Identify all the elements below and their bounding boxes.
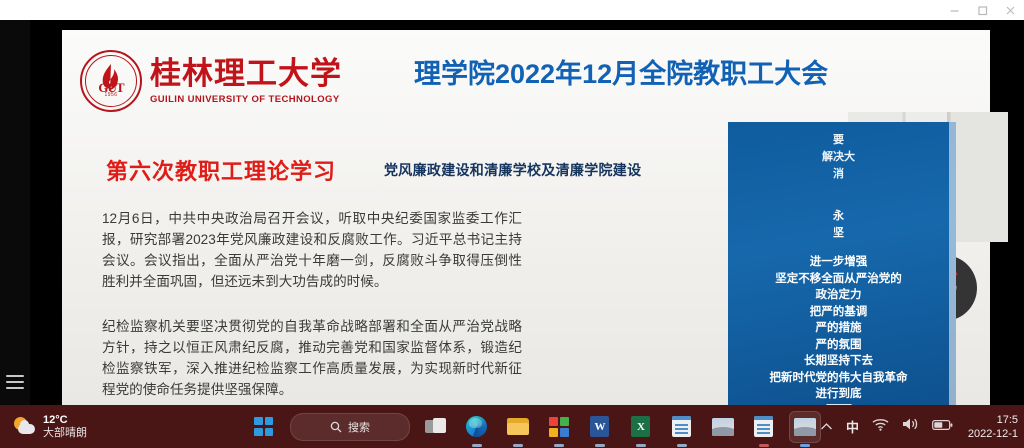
taskbar-item-store[interactable] — [544, 412, 574, 442]
notepad-icon — [672, 416, 691, 437]
start-button[interactable] — [249, 412, 279, 442]
word-icon: W — [590, 416, 609, 437]
clock-date: 2022-12-1 — [966, 427, 1018, 441]
slide-keeps-line: 两个 “时刻保持” — [162, 404, 278, 405]
clock-time: 17:5 — [966, 413, 1018, 427]
ime-indicator[interactable]: 中 — [846, 417, 859, 436]
edge-icon — [466, 416, 487, 437]
taskbar-item-edge[interactable] — [462, 412, 492, 442]
clock[interactable]: 17:5 2022-12-1 — [966, 413, 1018, 441]
university-name-en: GUILIN UNIVERSITY OF TECHNOLOGY — [150, 94, 342, 105]
left-toolbar-rail — [0, 20, 30, 405]
meeting-stage: GUT 1956 桂林理工大学 GUILIN UNIVERSITY OF TEC… — [0, 20, 1024, 405]
university-seal-icon: GUT 1956 — [80, 50, 142, 112]
photos-icon — [712, 418, 734, 436]
notepad-2-icon — [754, 416, 773, 437]
chevron-up-icon — [820, 422, 833, 431]
weather-partly-sunny-icon — [14, 416, 36, 438]
search-icon — [330, 421, 342, 433]
meeting-app-icon — [794, 418, 816, 436]
excel-icon: X — [631, 416, 650, 437]
taskbar-item-excel[interactable]: X — [626, 412, 656, 442]
volume-icon — [902, 417, 919, 431]
volume-button[interactable] — [902, 417, 919, 436]
shared-slide: GUT 1956 桂林理工大学 GUILIN UNIVERSITY OF TEC… — [62, 30, 990, 405]
slide-sub-heading: 党风廉政建设和清廉学校及清廉学院建设 — [384, 160, 641, 180]
close-icon[interactable] — [996, 0, 1024, 20]
weather-condition: 大部晴朗 — [43, 427, 87, 440]
university-name-cn: 桂林理工大学 — [150, 58, 342, 89]
weather-temperature: 12°C — [43, 414, 87, 427]
slide-paragraph-1: 12月6日，中共中央政治局召开会议，听取中央纪委国家监委工作汇报，研究部署202… — [102, 208, 522, 292]
network-button[interactable] — [872, 418, 889, 436]
task-view-button[interactable] — [421, 412, 451, 442]
taskbar-item-photos[interactable] — [708, 412, 738, 442]
slide-title: 理学院2022年12月全院教职工大会 — [414, 52, 828, 91]
taskbar-item-notepad-2[interactable] — [749, 412, 779, 442]
windows-logo-icon — [254, 417, 273, 436]
slide-red-heading: 第六次教职工理论学习 — [106, 154, 336, 186]
search-placeholder: 搜索 — [348, 419, 370, 435]
search-input[interactable]: 搜索 — [290, 413, 410, 441]
taskbar-item-notepad[interactable] — [667, 412, 697, 442]
taskbar-weather-widget[interactable]: 12°C 大部晴朗 — [0, 414, 249, 440]
taskbar-item-file-explorer[interactable] — [503, 412, 533, 442]
taskbar-app-strip: 搜索 W — [249, 412, 820, 442]
task-view-icon — [425, 418, 446, 435]
excel-glyph: X — [637, 421, 645, 433]
word-glyph: W — [594, 421, 605, 433]
poster-edge-highlight — [949, 122, 956, 405]
maximize-icon[interactable] — [968, 0, 996, 20]
wifi-icon — [872, 418, 889, 431]
taskbar-item-meeting-app[interactable] — [790, 412, 820, 442]
tray-overflow-button[interactable] — [820, 418, 833, 436]
poster-main-lines: 进一步增强 坚定不移全面从严治党的 政治定力 把严的基调 严的措施 严的氛围 长… — [728, 254, 949, 403]
battery-icon — [932, 419, 953, 431]
poster-top-lines: 要 解决大 消 — [728, 132, 949, 183]
store-icon — [549, 417, 569, 437]
folder-icon — [507, 418, 529, 435]
system-tray: 中 — [820, 413, 1024, 441]
window-title-bar — [0, 0, 1024, 20]
screen-root: GUT 1956 桂林理工大学 GUILIN UNIVERSITY OF TEC… — [0, 0, 1024, 448]
menu-icon[interactable] — [6, 375, 24, 389]
windows-taskbar: 12°C 大部晴朗 搜索 — [0, 405, 1024, 448]
poster-mid-lines: 永 坚 — [728, 208, 949, 242]
battery-button[interactable] — [932, 418, 953, 436]
university-logo: GUT 1956 桂林理工大学 GUILIN UNIVERSITY OF TEC… — [80, 50, 342, 112]
slide-paragraph-2: 纪检监察机关要坚决贯彻党的自我革命战略部署和全面从严治党战略方针，持之以恒正风肃… — [102, 316, 522, 400]
taskbar-item-word[interactable]: W — [585, 412, 615, 442]
slide-poster-image: 要 解决大 消 永 坚 进一步增强 坚定不移全面从严治党的 政治定力 把严的基调… — [728, 122, 956, 405]
minimize-icon[interactable] — [940, 0, 968, 20]
